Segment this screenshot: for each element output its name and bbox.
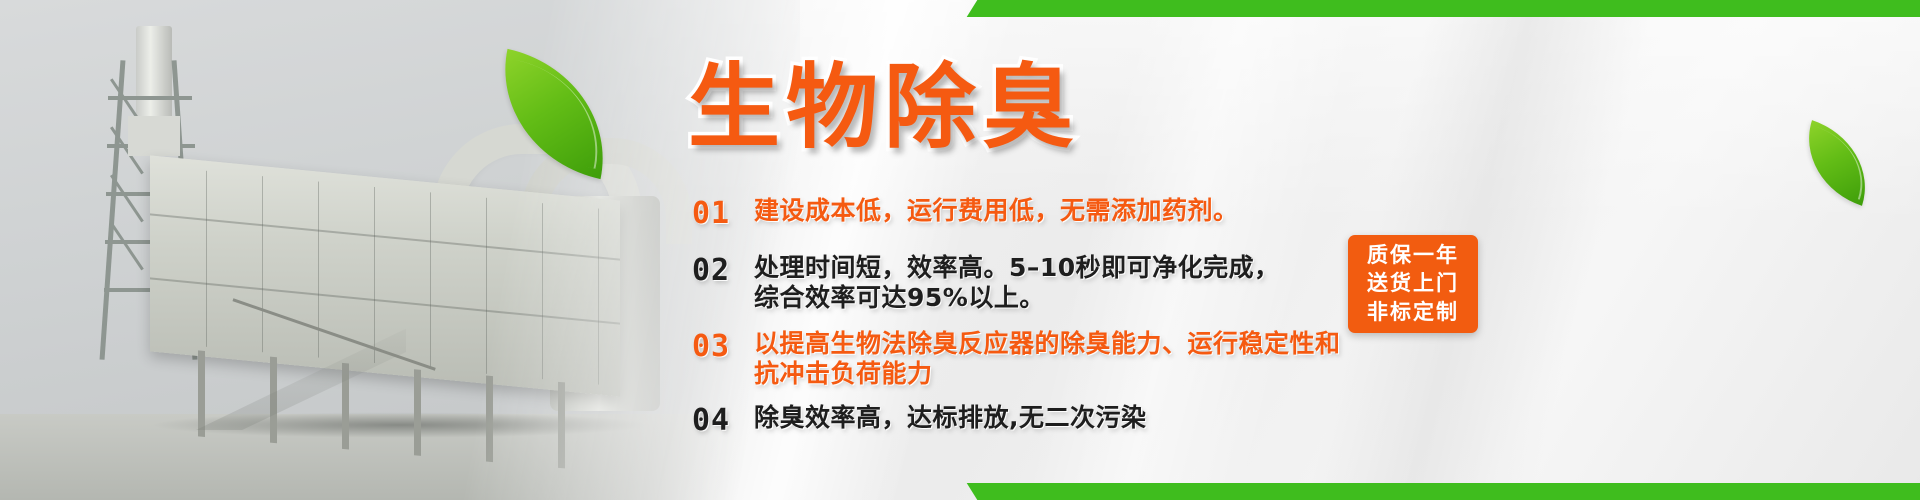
badge-line-1: 质保一年 xyxy=(1367,244,1459,267)
feature-item-03: 03 以提高生物法除臭反应器的除臭能力、运行稳定性和 抗冲击负荷能力 xyxy=(692,329,1592,389)
feature-text-04-line1: 除臭效率高，达标排放,无二次污染 xyxy=(754,403,1147,432)
feature-number-03: 03 xyxy=(692,329,754,364)
feature-number-01: 01 xyxy=(692,196,754,231)
banner-title: 生物除臭 xyxy=(688,62,1080,154)
plant-photo xyxy=(0,0,800,500)
feature-item-01: 01 建设成本低，运行费用低，无需添加药剂。 xyxy=(692,196,1592,231)
badge-line-2: 送货上门 xyxy=(1367,272,1459,295)
feature-number-04: 04 xyxy=(692,403,754,438)
feature-text-01-line1: 建设成本低，运行费用低，无需添加药剂。 xyxy=(754,196,1239,225)
feature-text-02-line2: 综合效率可达95%以上。 xyxy=(754,283,1280,313)
promo-banner: 生物除臭 01 建设成本低，运行费用低，无需添加药剂。 02 处理时间短，效率高… xyxy=(0,0,1920,500)
feature-text-03: 以提高生物法除臭反应器的除臭能力、运行稳定性和 抗冲击负荷能力 xyxy=(754,329,1341,389)
feature-item-04: 04 除臭效率高，达标排放,无二次污染 xyxy=(692,403,1592,438)
feature-text-03-line2: 抗冲击负荷能力 xyxy=(754,359,1341,389)
badge-line-3: 非标定制 xyxy=(1367,301,1459,324)
guarantee-badge: 质保一年 送货上门 非标定制 xyxy=(1348,235,1478,333)
feature-text-02: 处理时间短，效率高。5–10秒即可净化完成， 综合效率可达95%以上。 xyxy=(754,253,1280,313)
feature-number-02: 02 xyxy=(692,253,754,288)
feature-text-04: 除臭效率高，达标排放,无二次污染 xyxy=(754,403,1147,433)
feature-text-03-line1: 以提高生物法除臭反应器的除臭能力、运行稳定性和 xyxy=(754,329,1341,358)
feature-text-02-line1: 处理时间短，效率高。5–10秒即可净化完成， xyxy=(754,253,1280,282)
feature-text-01: 建设成本低，运行费用低，无需添加药剂。 xyxy=(754,196,1239,226)
banner-content: 生物除臭 01 建设成本低，运行费用低，无需添加药剂。 02 处理时间短，效率高… xyxy=(688,0,1920,500)
